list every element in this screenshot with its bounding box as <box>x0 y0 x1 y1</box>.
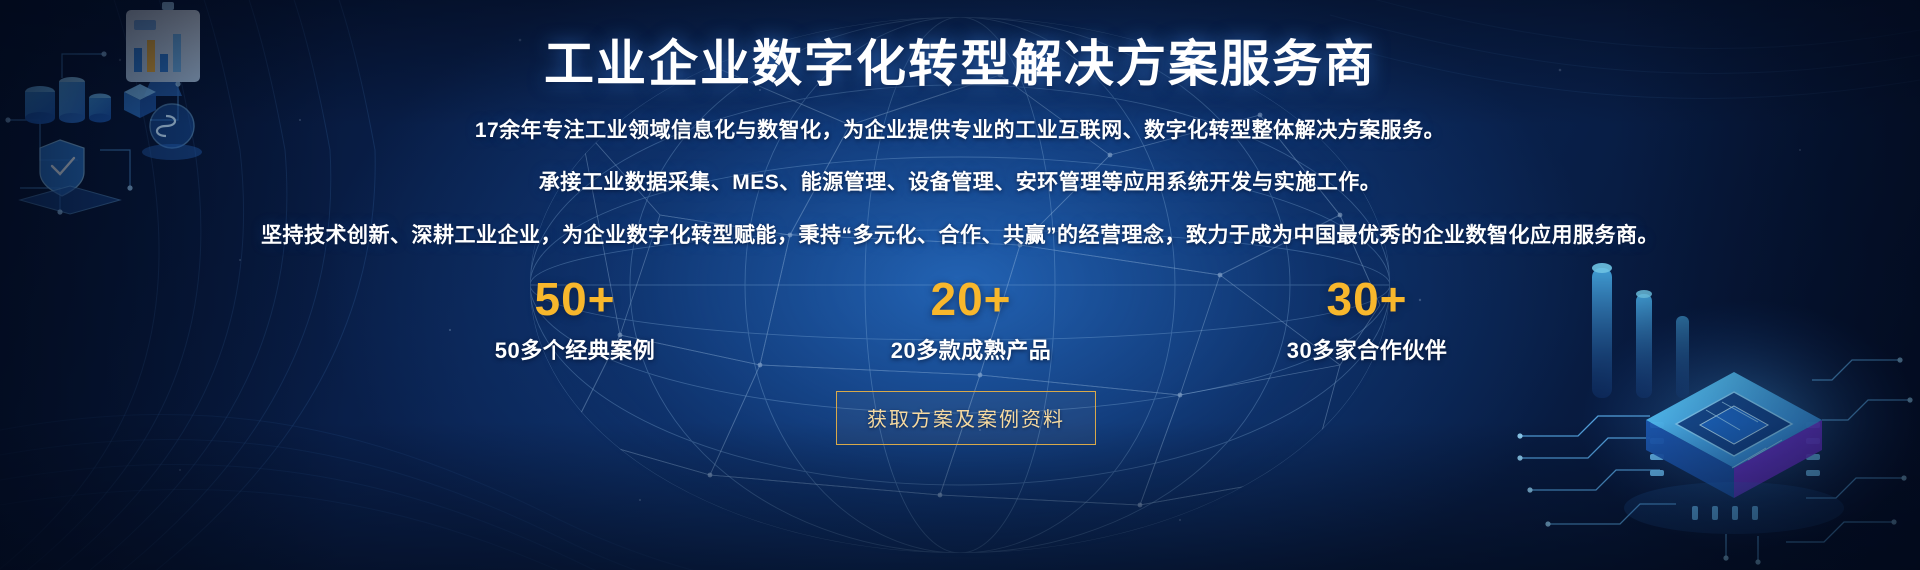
subtitle-line-2: 承接工业数据采集、MES、能源管理、设备管理、安环管理等应用系统开发与实施工作。 <box>0 166 1920 196</box>
page-title: 工业企业数字化转型解决方案服务商 <box>0 36 1920 93</box>
stat-number: 30+ <box>1252 275 1482 323</box>
stat-item-products: 20+ 20多款成熟产品 <box>856 275 1086 365</box>
stat-label: 30多家合作伙伴 <box>1252 333 1482 365</box>
stat-label: 50多个经典案例 <box>460 333 690 365</box>
stat-item-partners: 30+ 30多家合作伙伴 <box>1252 275 1482 365</box>
stat-item-cases: 50+ 50多个经典案例 <box>460 275 690 365</box>
banner-content: 工业企业数字化转型解决方案服务商 17余年专注工业领域信息化与数智化，为企业提供… <box>0 36 1920 570</box>
stat-number: 20+ <box>856 275 1086 323</box>
cta-container: 获取方案及案例资料 <box>0 391 1920 445</box>
hero-banner: 工业企业数字化转型解决方案服务商 17余年专注工业领域信息化与数智化，为企业提供… <box>0 0 1920 570</box>
stat-number: 50+ <box>460 275 690 323</box>
stats-row: 50+ 50多个经典案例 20+ 20多款成熟产品 30+ 30多家合作伙伴 <box>0 275 1920 365</box>
get-solution-button[interactable]: 获取方案及案例资料 <box>836 391 1096 445</box>
subtitle-line-3: 坚持技术创新、深耕工业企业，为企业数字化转型赋能，秉持“多元化、合作、共赢”的经… <box>0 219 1920 249</box>
subtitle-line-1: 17余年专注工业领域信息化与数智化，为企业提供专业的工业互联网、数字化转型整体解… <box>0 114 1920 144</box>
stat-label: 20多款成熟产品 <box>856 333 1086 365</box>
